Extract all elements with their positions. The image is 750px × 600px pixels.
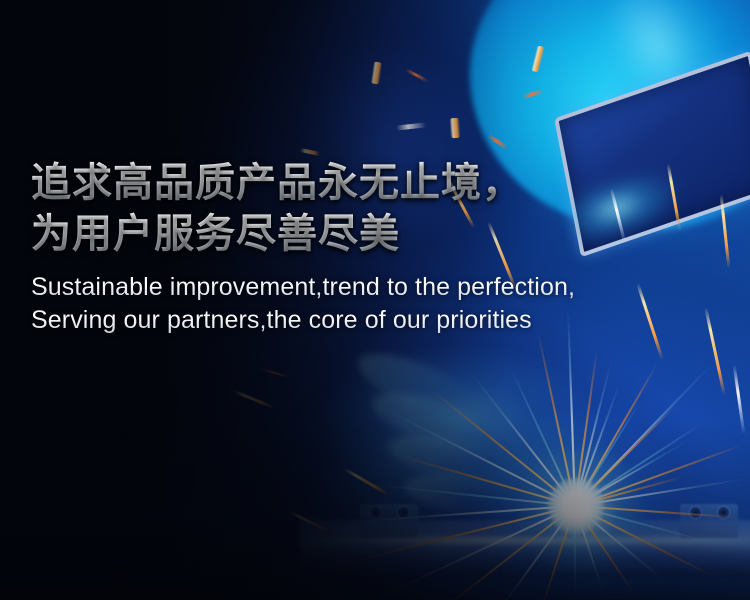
spark <box>449 118 460 139</box>
arc-ray <box>413 505 576 600</box>
glove-finger <box>365 380 531 471</box>
spark <box>343 467 390 496</box>
helmet-highlight <box>577 0 748 150</box>
slogan-block: 追求高品质产品永无止境， 为用户服务尽善尽美 Sustainable impro… <box>31 158 721 337</box>
headline-cn-line-2: 为用户服务尽善尽美 <box>31 209 721 260</box>
bolt-plate <box>680 504 738 538</box>
arc-ray <box>574 506 576 594</box>
spark <box>720 195 731 269</box>
headline-en-line-1: Sustainable improvement,trend to the per… <box>31 271 721 304</box>
spark <box>233 390 275 409</box>
spark <box>405 68 429 83</box>
spark <box>396 122 426 130</box>
arc-ray <box>480 505 576 600</box>
hero-banner: 追求高品质产品永无止境， 为用户服务尽善尽美 Sustainable impro… <box>0 0 750 600</box>
headline-cn-line-1: 追求高品质产品永无止境， <box>31 158 721 209</box>
spark <box>288 510 331 533</box>
workpiece-edge-highlight <box>290 537 750 544</box>
spark <box>300 148 320 156</box>
headline-en-line-2: Serving our partners,the core of our pri… <box>31 304 721 337</box>
subheadline-block: Sustainable improvement,trend to the per… <box>31 271 721 337</box>
bolt-hole <box>370 507 381 518</box>
spark <box>733 365 746 435</box>
spark <box>260 368 289 378</box>
glove-finger <box>383 425 538 497</box>
spark <box>487 134 509 151</box>
glove-finger <box>349 339 505 442</box>
spark <box>371 61 383 84</box>
spark <box>531 45 545 72</box>
spark <box>522 89 544 100</box>
